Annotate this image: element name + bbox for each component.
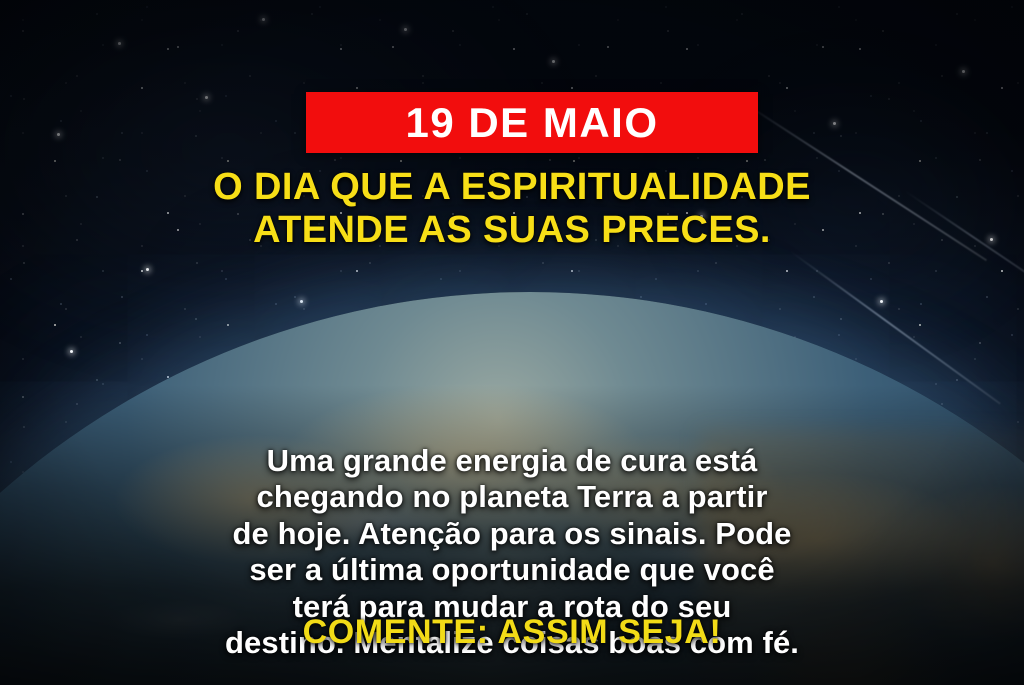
date-banner: 19 DE MAIO [306, 92, 758, 153]
headline-line-2: ATENDE AS SUAS PRECES. [50, 209, 974, 252]
body-line: de hoje. Atenção para os sinais. Pode [40, 516, 984, 552]
poster-content: 19 DE MAIO O DIA QUE A ESPIRITUALIDADE A… [0, 0, 1024, 685]
headline-line-1: O DIA QUE A ESPIRITUALIDADE [213, 166, 811, 208]
body-line: Uma grande energia de cura está [40, 443, 984, 479]
body-line: chegando no planeta Terra a partir [40, 479, 984, 515]
date-banner-label: 19 DE MAIO [405, 102, 658, 144]
call-to-action-text: COMENTE: ASSIM SEJA! [50, 613, 974, 652]
poster-canvas: 19 DE MAIO O DIA QUE A ESPIRITUALIDADE A… [0, 0, 1024, 685]
body-line: ser a última oportunidade que você [40, 552, 984, 588]
headline: O DIA QUE A ESPIRITUALIDADE ATENDE AS SU… [50, 166, 974, 252]
